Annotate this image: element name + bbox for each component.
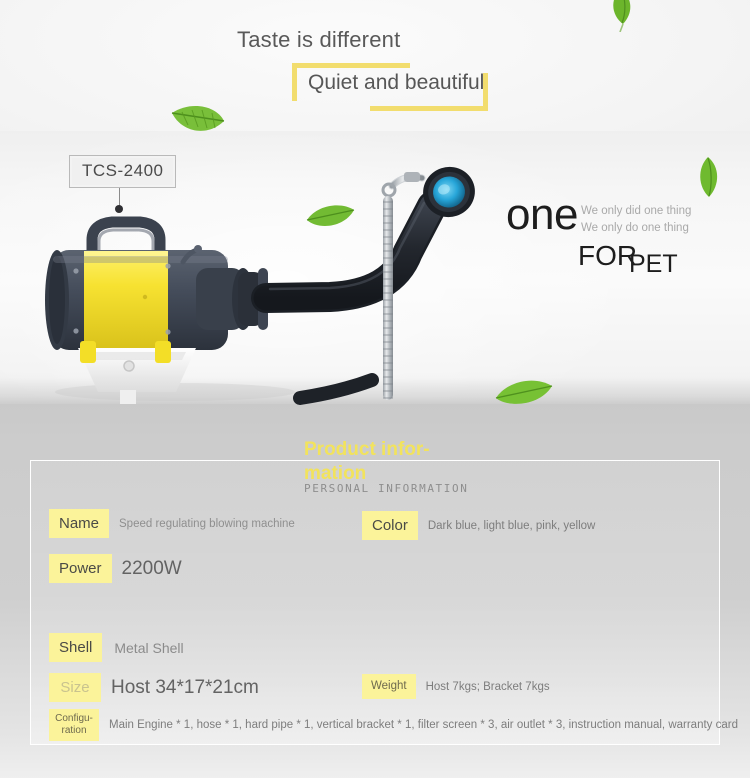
pet-blower-product-image — [0, 0, 750, 778]
model-number-tag: TCS-2400 — [69, 155, 176, 188]
section-title-english: PERSONAL INFORMATION — [304, 482, 468, 495]
section-title: Product infor-mation — [304, 438, 444, 486]
product-detail-page: Taste is different Quiet and beautiful T… — [0, 0, 750, 778]
model-pointer-dot — [115, 205, 123, 213]
